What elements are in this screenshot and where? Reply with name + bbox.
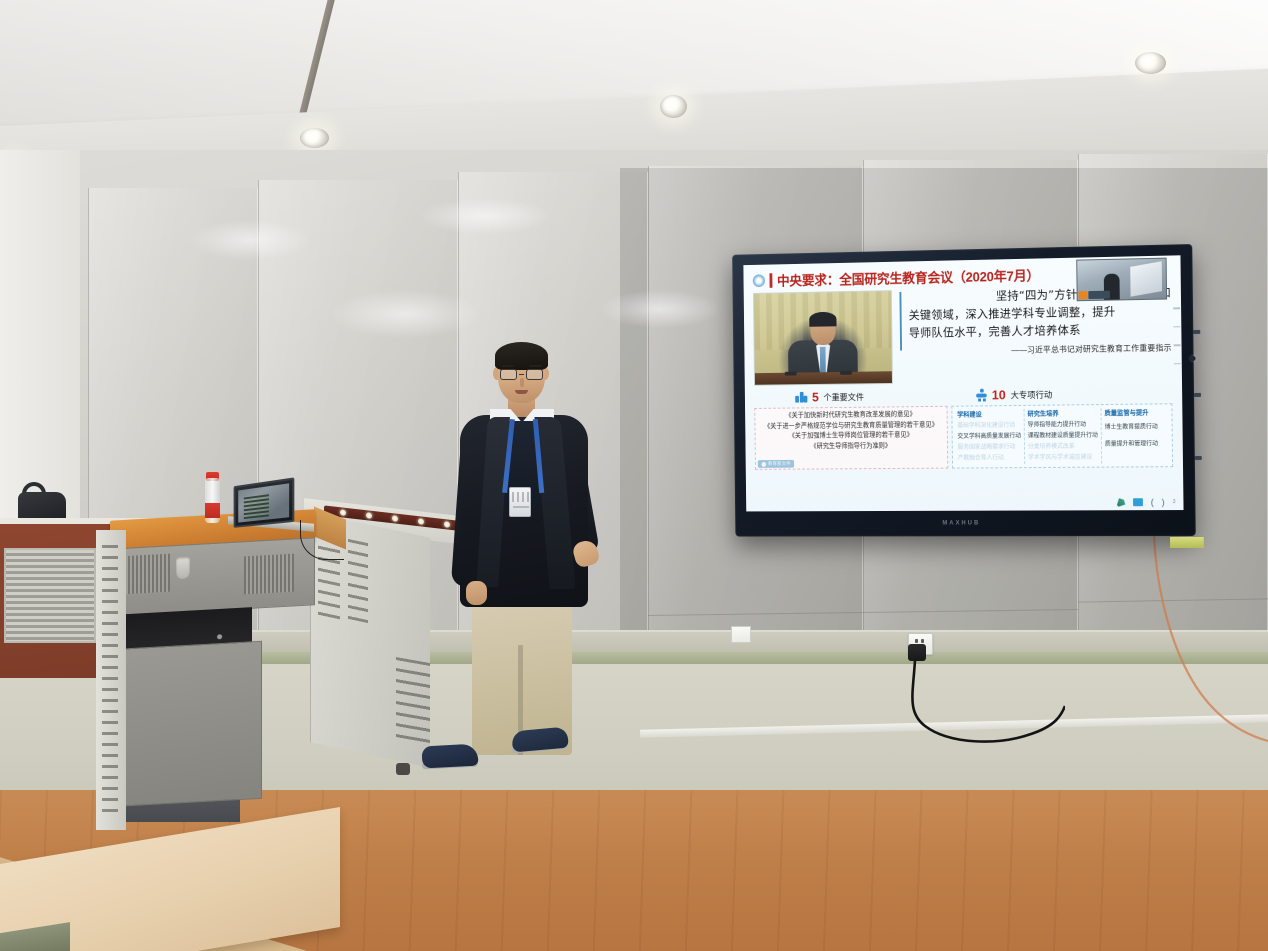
section-number: 10	[992, 387, 1006, 402]
bottle-label	[205, 503, 220, 518]
power-plug[interactable]	[908, 644, 926, 661]
slide-edge-markers	[1173, 307, 1181, 364]
slide-toolbar[interactable]: ( ) 3	[1116, 497, 1175, 507]
column-item: 导师指导能力提升行动	[1028, 420, 1098, 432]
edge-marker	[1173, 326, 1180, 328]
section-number: 5	[812, 390, 819, 405]
presentation-slide: 中央要求：全国研究生教育会议（2020年7月）	[743, 255, 1183, 511]
outlet-slot	[915, 639, 918, 643]
stamp-label: 教育部文件	[768, 461, 791, 467]
document-item: 《研究生导师指导行为准则》	[758, 441, 944, 453]
column-header: 学科建设	[957, 409, 1021, 419]
ceiling-downlight	[300, 128, 329, 148]
university-seal-icon	[753, 274, 765, 287]
laptop-screen-content	[244, 494, 269, 519]
column-item: 博士生教育提质行动	[1105, 422, 1167, 434]
laptop-display	[238, 483, 289, 522]
section-documents: 5 个重要文件	[795, 389, 864, 404]
display-button[interactable]	[1193, 330, 1200, 334]
ceiling-downlight	[1135, 52, 1166, 74]
mouth	[515, 390, 528, 394]
section-headers: 5 个重要文件 10 大专项行动	[754, 385, 1172, 405]
person-action-icon	[976, 389, 987, 402]
lectern-caster	[396, 763, 410, 775]
column-item: 质量提升和管理行动	[1105, 439, 1167, 451]
column-item: 服务国家战略需求行动	[958, 443, 1022, 454]
section-label: 大专项行动	[1010, 388, 1052, 400]
display-chin: MAXHUB	[735, 510, 1196, 537]
cabinet-grille	[4, 548, 96, 643]
column-header: 质量监管与提升	[1104, 407, 1166, 417]
lectern-lock[interactable]	[176, 557, 190, 580]
documents-list: 《关于加快新时代研究生教育改革发展的意见》 《关于进一步严格规范学位与研究生教育…	[754, 406, 948, 470]
column-item: 产教融合育人行动	[958, 454, 1022, 465]
photo-desk	[755, 371, 892, 385]
page-number: 3	[1172, 499, 1175, 505]
control-button[interactable]	[392, 515, 398, 522]
lectern-speaker-left	[120, 554, 170, 595]
glasses-bridge	[519, 374, 524, 375]
lens-left	[500, 369, 517, 380]
display-screen[interactable]: 中央要求：全国研究生教育会议（2020年7月）	[743, 255, 1183, 511]
photo-subject-hair	[809, 311, 836, 326]
ceiling-downlight	[660, 95, 687, 118]
laptop[interactable]	[234, 477, 295, 527]
display-bottom-indicator	[1170, 537, 1204, 548]
lectern-speaker-right	[244, 554, 294, 595]
action-columns: 学科建设 基础学科深化建设行动 交叉学科高质量发展行动 服务国家战略需求行动 产…	[951, 403, 1173, 469]
overlay-whiteboard	[1130, 261, 1162, 297]
column-item: 基础学科深化建设行动	[957, 421, 1021, 433]
meeting-photo	[753, 290, 893, 386]
interactive-display[interactable]: 中央要求：全国研究生教育会议（2020年7月）	[732, 244, 1196, 537]
quote-line: 导师队伍水平，完善人才培养体系	[909, 320, 1172, 342]
stamp-icon	[761, 462, 766, 467]
camera-feed-overlay[interactable]	[1076, 258, 1167, 302]
presenter	[424, 345, 624, 785]
quote-attribution: ——习近平总书记对研究生教育工作重要指示	[909, 342, 1172, 357]
outlet-holes	[915, 639, 924, 643]
presenter-left-hand	[466, 581, 487, 605]
lens-right	[526, 369, 543, 380]
pen-tool-icon[interactable]	[1114, 496, 1127, 509]
quote-accent-bar	[899, 292, 902, 351]
control-button[interactable]	[340, 509, 346, 516]
lectern-vent	[348, 539, 368, 623]
badge-text-line	[513, 506, 529, 508]
photo-subject-tie	[820, 347, 826, 372]
documents-icon	[795, 392, 807, 403]
action-column-quality: 质量监管与提升 博士生教育提质行动 质量提升和管理行动	[1102, 407, 1171, 464]
action-column-training: 研究生培养 导师指导能力提升行动 课程教材建设质量提升行动 分类培养模式改革 学…	[1025, 408, 1103, 464]
wall-plate	[731, 626, 751, 643]
lectern-door[interactable]	[110, 641, 262, 807]
note-tool-icon[interactable]	[1133, 498, 1143, 506]
column-item: 学术学风与学术诚信建设	[1028, 453, 1098, 464]
microphone-icon	[785, 371, 797, 375]
microphone-icon	[839, 370, 851, 374]
id-badge	[509, 487, 531, 517]
next-page-icon[interactable]: )	[1162, 497, 1165, 507]
column-item: 分类培养模式改革	[1028, 442, 1098, 454]
column-header: 研究生培养	[1027, 408, 1097, 418]
power-cable	[905, 660, 1065, 750]
presenter-left-shoe	[421, 744, 478, 769]
column-item: 交叉学科高质量发展行动	[957, 432, 1021, 443]
overlay-badge	[1079, 291, 1110, 300]
overlay-badge-icon	[1079, 291, 1088, 299]
edge-marker	[1174, 344, 1181, 346]
edge-marker	[1174, 363, 1181, 365]
prev-page-icon[interactable]: (	[1151, 497, 1154, 507]
section-label: 个重要文件	[823, 391, 864, 403]
control-button[interactable]	[366, 512, 372, 519]
edge-marker	[1173, 307, 1180, 309]
orange-cable	[1150, 535, 1268, 750]
nose	[520, 378, 524, 387]
display-button[interactable]	[1195, 456, 1202, 460]
action-column-discipline: 学科建设 基础学科深化建设行动 交叉学科高质量发展行动 服务国家战略需求行动 产…	[954, 409, 1025, 465]
display-button[interactable]	[1194, 393, 1201, 397]
display-brand-label: MAXHUB	[942, 521, 980, 527]
overlay-badge-label	[1088, 291, 1110, 299]
screenshot-root: 中央要求：全国研究生教育会议（2020年7月）	[0, 0, 1268, 951]
outlet-slot	[921, 639, 924, 643]
ministry-stamp: 教育部文件	[758, 460, 795, 468]
slide-lower-panels: 《关于加快新时代研究生教育改革发展的意见》 《关于进一步严格规范学位与研究生教育…	[754, 403, 1173, 470]
display-ir-sensor	[1191, 356, 1196, 361]
badge-photo	[512, 492, 530, 502]
section-actions: 10 大专项行动	[976, 387, 1052, 403]
slide-title: 中央要求：全国研究生教育会议（2020年7月）	[777, 264, 1040, 289]
lectern-vent	[102, 545, 118, 815]
title-accent-bar	[769, 273, 772, 288]
lectern[interactable]	[96, 485, 406, 815]
column-item: 课程教材建设质量提升行动	[1028, 431, 1098, 443]
